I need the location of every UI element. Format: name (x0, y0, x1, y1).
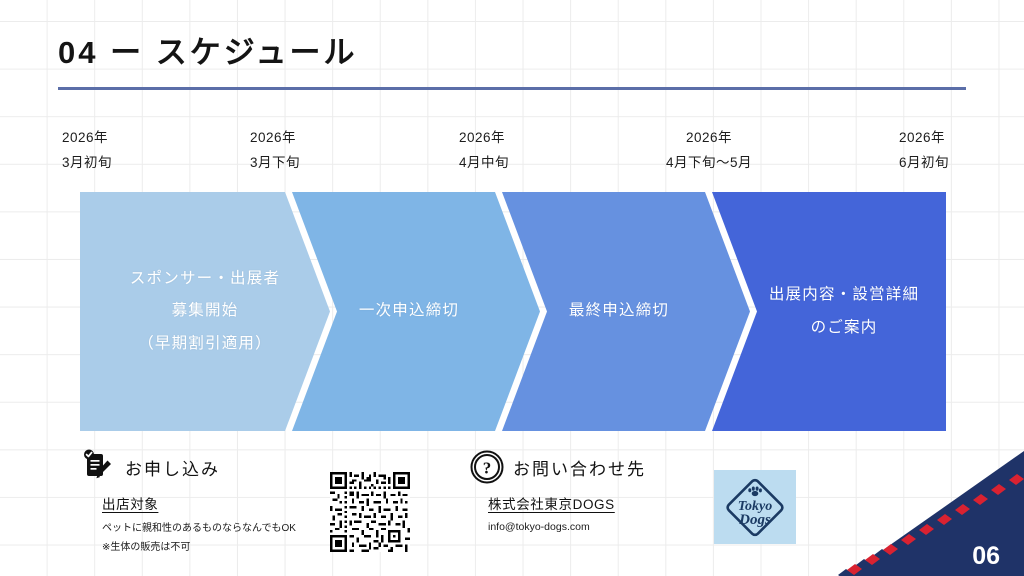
corner-decoration: 06 (824, 451, 1024, 576)
page-title: 04 ー スケジュール (58, 34, 968, 73)
apply-note-1: ペットに親和性のあるものならなんでもOK (102, 520, 296, 539)
apply-heading-row: お申し込み (80, 449, 296, 485)
timeline-step-1[interactable]: スポンサー・出展者 募集開始 （早期割引適用） (80, 192, 330, 431)
page-number-text: 06 (972, 542, 1000, 570)
apply-note-2: ※生体の販売は不可 (102, 539, 296, 558)
timeline-step-2-line-1: 一次申込締切 (359, 295, 459, 328)
logo-line-2-text: Dogs (738, 512, 771, 528)
contact-info-block: ? お問い合わせ先 株式会社東京DOGS info@tokyo-dogs.com (470, 449, 646, 533)
page-title-block: 04 ー スケジュール (58, 34, 968, 73)
apply-heading: お申し込み (125, 455, 220, 480)
milestone-month-5: 6月初旬 (899, 151, 949, 176)
svg-text:?: ? (483, 459, 492, 478)
timeline-step-1-label: スポンサー・出展者 募集開始 （早期割引適用） (130, 263, 280, 361)
milestone-month-4: 4月下旬〜5月 (659, 151, 759, 176)
contact-email[interactable]: info@tokyo-dogs.com (488, 521, 646, 533)
milestone-year-2: 2026年 (250, 126, 300, 151)
milestone-date-3: 2026年 4月中旬 (459, 126, 509, 176)
milestone-date-5: 2026年 6月初旬 (899, 126, 949, 176)
tokyo-dogs-logo: Tokyo Dogs (714, 470, 796, 544)
milestone-date-1: 2026年 3月初旬 (62, 126, 112, 176)
timeline-step-1-line-1: スポンサー・出展者 (130, 263, 280, 296)
contact-heading: お問い合わせ先 (513, 455, 646, 480)
document-check-pencil-icon (80, 449, 116, 485)
question-mark-circle-icon: ? (470, 450, 504, 484)
milestone-year-5: 2026年 (899, 126, 949, 151)
timeline-step-4-line-1: 出展内容・設営詳細 (769, 279, 919, 312)
slide-canvas: 04 ー スケジュール 2026年 3月初旬 2026年 3月下旬 2026年 … (0, 0, 1024, 576)
milestone-month-1: 3月初旬 (62, 151, 112, 176)
apply-info-block: お申し込み 出店対象 ペットに親和性のあるものならなんでもOK ※生体の販売は不… (80, 449, 296, 557)
apply-subheading: 出店対象 (102, 493, 296, 513)
contact-body: 株式会社東京DOGS info@tokyo-dogs.com (488, 493, 646, 533)
timeline-step-1-line-3: （早期割引適用） (130, 328, 280, 361)
timeline-step-4-label: 出展内容・設営詳細 のご案内 (739, 279, 919, 344)
milestone-date-4: 2026年 4月下旬〜5月 (659, 126, 759, 176)
milestone-month-3: 4月中旬 (459, 151, 509, 176)
timeline-step-2-label: 一次申込締切 (359, 295, 473, 328)
timeline-step-3-label: 最終申込締切 (569, 295, 683, 328)
apply-body: 出店対象 ペットに親和性のあるものならなんでもOK ※生体の販売は不可 (102, 493, 296, 557)
timeline-chevron-band: スポンサー・出展者 募集開始 （早期割引適用） 一次申込締切 最終申込締切 出展… (80, 192, 946, 431)
title-underline-rule (58, 87, 966, 90)
milestone-year-3: 2026年 (459, 126, 509, 151)
application-qr-code[interactable] (330, 472, 410, 552)
milestone-year-1: 2026年 (62, 126, 112, 151)
milestone-year-4: 2026年 (659, 126, 759, 151)
contact-heading-row: ? お問い合わせ先 (470, 449, 646, 485)
milestone-date-2: 2026年 3月下旬 (250, 126, 300, 176)
timeline-step-1-line-2: 募集開始 (130, 295, 280, 328)
timeline-step-3-line-1: 最終申込締切 (569, 295, 669, 328)
contact-company: 株式会社東京DOGS (488, 493, 646, 513)
milestone-month-2: 3月下旬 (250, 151, 300, 176)
timeline-step-4-line-2: のご案内 (769, 312, 919, 345)
